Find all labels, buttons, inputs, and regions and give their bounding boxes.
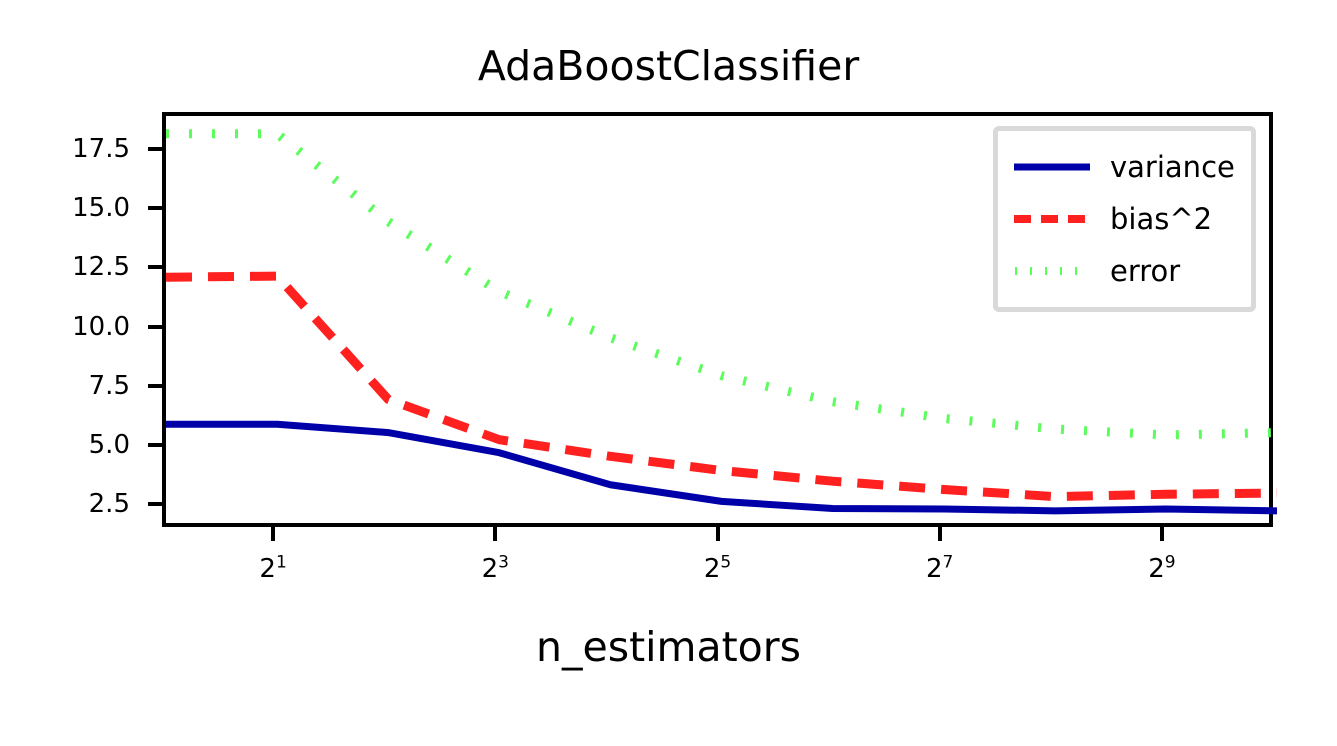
y-axis-tick-label: 5.0 [89, 432, 130, 458]
legend-label-variance: variance [1110, 153, 1235, 182]
y-axis-tick-mark [148, 502, 162, 506]
legend[interactable]: variance bias^2 error [993, 126, 1256, 312]
x-axis-tick-label: 25 [704, 556, 731, 582]
y-axis-tick-mark [148, 325, 162, 329]
legend-item-error[interactable]: error [1012, 245, 1235, 297]
y-axis-tick-mark [148, 206, 162, 210]
x-axis-tick-label: 29 [1148, 556, 1175, 582]
legend-swatch-bias-squared [1012, 206, 1092, 232]
page-title: AdaBoostClassifier [0, 46, 1337, 87]
matplotlib-figure: AdaBoostClassifier 2.55.07.510.012.515.0… [0, 0, 1337, 746]
legend-item-bias-squared[interactable]: bias^2 [1012, 193, 1235, 245]
x-axis-tick-label: 21 [259, 556, 286, 582]
x-axis-tick-label: 23 [482, 556, 509, 582]
y-axis-tick-label: 7.5 [89, 373, 130, 399]
y-axis-tick-label: 2.5 [89, 491, 130, 517]
legend-label-bias-squared: bias^2 [1110, 205, 1212, 234]
y-axis-tick-label: 12.5 [72, 254, 130, 280]
y-axis-tick-mark [148, 384, 162, 388]
legend-swatch-variance [1012, 154, 1092, 180]
y-axis-tick-label: 10.0 [72, 314, 130, 340]
y-axis-tick-mark [148, 265, 162, 269]
legend-item-variance[interactable]: variance [1012, 141, 1235, 193]
x-axis-tick-label: 27 [926, 556, 953, 582]
y-axis-tick-label: 15.0 [72, 195, 130, 221]
y-axis-tick-mark [148, 443, 162, 447]
y-axis-tick-label: 17.5 [72, 136, 130, 162]
legend-label-error: error [1110, 257, 1180, 286]
y-axis-tick-mark [148, 147, 162, 151]
legend-swatch-error [1012, 258, 1092, 284]
x-axis-label: n_estimators [0, 627, 1337, 668]
